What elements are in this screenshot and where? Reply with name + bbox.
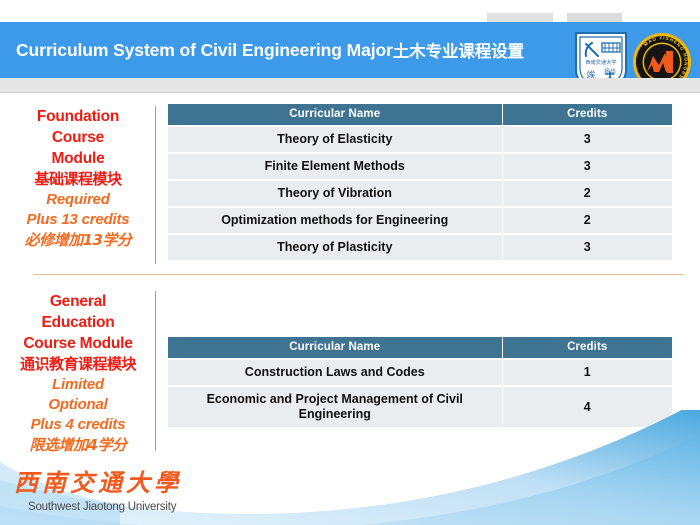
svg-text:西南交通大學: 西南交通大學: [14, 468, 182, 497]
table-row: Economic and Project Management of Civil…: [168, 386, 672, 427]
section-general-education-course-module: General Education Course Module 通识教育课程模块…: [0, 289, 690, 456]
table-row: Construction Laws and Codes 1: [168, 359, 672, 386]
table-header-row: Curricular Name Credits: [168, 104, 672, 126]
page-title-cn: 土木专业课程设置: [393, 38, 524, 62]
cell-course-name: Finite Element Methods: [168, 153, 502, 180]
general-education-requirement-line-2: Optional: [0, 395, 156, 415]
foundation-course-table: Curricular Name Credits Theory of Elasti…: [168, 104, 672, 260]
svg-text:西南交通大学: 西南交通大学: [585, 58, 616, 66]
university-name-calligraphy-cn: 西南交通大學: [10, 465, 210, 499]
top-strip-artifact-left: [487, 13, 553, 22]
page-title-en: Curriculum System of Civil Engineering M…: [16, 40, 393, 61]
general-education-title-line-1: General: [0, 291, 156, 312]
table-row: Theory of Vibration 2: [168, 180, 672, 207]
cell-course-credits: 3: [502, 234, 672, 260]
cell-course-credits: 3: [502, 153, 672, 180]
general-education-module-vertical-rule: [155, 291, 156, 451]
general-education-module-label: General Education Course Module 通识教育课程模块…: [0, 289, 156, 456]
cell-course-name: Theory of Vibration: [168, 180, 502, 207]
cell-course-name: Construction Laws and Codes: [168, 359, 502, 386]
general-education-table-wrap: Curricular Name Credits Construction Law…: [156, 289, 690, 456]
top-strip-artifact-right: [567, 13, 622, 22]
general-education-title-cn: 通识教育课程模块: [0, 354, 156, 375]
section-divider: [33, 274, 683, 275]
cell-course-credits: 2: [502, 180, 672, 207]
col-header-credits: Credits: [502, 104, 672, 126]
cell-course-name: Optimization methods for Engineering: [168, 207, 502, 234]
foundation-module-requirement-cn: 必修增加13学分: [0, 230, 156, 251]
cell-course-name: Theory of Elasticity: [168, 126, 502, 153]
slide-content: Foundation Course Module 基础课程模块 Required…: [0, 93, 700, 525]
table-row: Optimization methods for Engineering 2: [168, 207, 672, 234]
general-education-title-line-3: Course Module: [0, 333, 156, 354]
cell-course-name: Theory of Plasticity: [168, 234, 502, 260]
cell-course-credits: 3: [502, 126, 672, 153]
foundation-module-title-line-3: Module: [0, 148, 156, 169]
foundation-module-label: Foundation Course Module 基础课程模块 Required…: [0, 104, 156, 260]
col-header-curricular-name: Curricular Name: [168, 104, 502, 126]
footer-university-logo: 西南交通大學 Southwest Jiaotong University: [8, 465, 223, 521]
general-education-requirement-cn: 限选增加4学分: [0, 435, 156, 456]
title-underline-band: [0, 78, 700, 92]
table-header-row: Curricular Name Credits: [168, 337, 672, 359]
cell-course-credits: 4: [502, 386, 672, 427]
cell-course-credits: 2: [502, 207, 672, 234]
table-row: Theory of Plasticity 3: [168, 234, 672, 260]
page-title: Curriculum System of Civil Engineering M…: [16, 22, 524, 78]
section-foundation-course-module: Foundation Course Module 基础课程模块 Required…: [0, 104, 690, 260]
slide-title-bar: Curriculum System of Civil Engineering M…: [0, 22, 700, 78]
table-row: Finite Element Methods 3: [168, 153, 672, 180]
general-education-requirement-line-1: Limited: [0, 375, 156, 395]
foundation-module-title-line-1: Foundation: [0, 106, 156, 127]
university-name-en: Southwest Jiaotong University: [28, 501, 176, 513]
general-education-requirement-line-3: Plus 4 credits: [0, 415, 156, 435]
foundation-module-vertical-rule: [155, 106, 156, 264]
slide-canvas: Curriculum System of Civil Engineering M…: [0, 0, 700, 525]
top-strip: [0, 0, 700, 22]
table-row: Theory of Elasticity 3: [168, 126, 672, 153]
foundation-module-requirement-line-1: Required: [0, 190, 156, 210]
general-education-course-table: Curricular Name Credits Construction Law…: [168, 337, 672, 427]
foundation-module-title-cn: 基础课程模块: [0, 169, 156, 190]
col-header-curricular-name: Curricular Name: [168, 337, 502, 359]
cell-course-name: Economic and Project Management of Civil…: [168, 386, 502, 427]
col-header-credits: Credits: [502, 337, 672, 359]
foundation-module-title-line-2: Course: [0, 127, 156, 148]
foundation-module-table-wrap: Curricular Name Credits Theory of Elasti…: [156, 104, 690, 260]
general-education-title-line-2: Education: [0, 312, 156, 333]
foundation-module-requirement-line-2: Plus 13 credits: [0, 210, 156, 230]
cell-course-credits: 1: [502, 359, 672, 386]
